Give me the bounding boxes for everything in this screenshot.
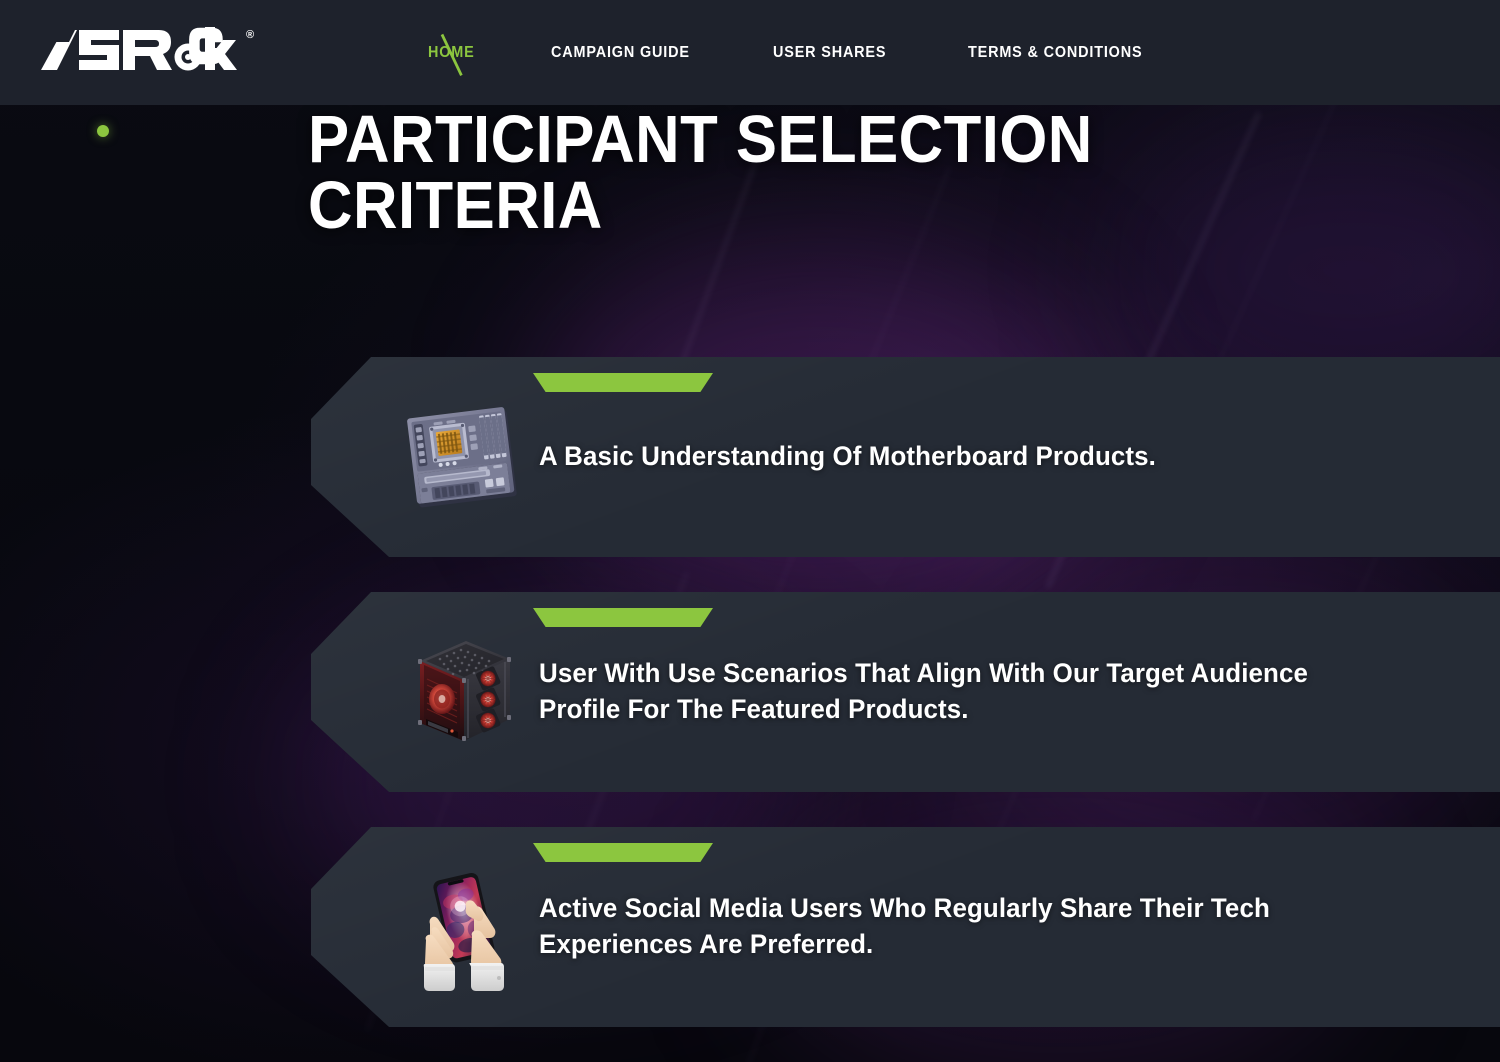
nav-item-user-shares[interactable]: USER SHARES (773, 34, 886, 72)
criteria-card-1[interactable]: A Basic Understanding Of Motherboard Pro… (311, 357, 1500, 557)
logo-trademark: ® (246, 30, 254, 41)
page-root: ® HOME CAMPAIGN GUIDE USER SHARES TERMS … (0, 0, 1500, 1062)
nav-item-terms-conditions-label: TERMS & CONDITIONS (968, 44, 1142, 61)
nav-item-user-shares-label: USER SHARES (773, 44, 886, 61)
nav-item-home[interactable]: HOME (428, 34, 475, 72)
hands-holding-phone-icon (391, 855, 536, 1000)
criteria-card-3[interactable]: Active Social Media Users Who Regularly … (311, 827, 1500, 1027)
criteria-card-1-text: A Basic Understanding Of Motherboard Pro… (539, 357, 1374, 557)
motherboard-icon (391, 385, 536, 530)
pc-case-icon (391, 620, 536, 765)
nav-item-terms-conditions[interactable]: TERMS & CONDITIONS (968, 34, 1142, 72)
nav-item-campaign-guide[interactable]: CAMPAIGN GUIDE (551, 34, 690, 72)
criteria-list: A Basic Understanding Of Motherboard Pro… (0, 0, 1500, 1062)
criteria-card-2-text: User With Use Scenarios That Align With … (539, 592, 1374, 792)
asrock-logo[interactable]: ® (33, 27, 254, 73)
criteria-card-3-text: Active Social Media Users Who Regularly … (539, 827, 1374, 1027)
criteria-card-2[interactable]: User With Use Scenarios That Align With … (311, 592, 1500, 792)
site-header: ® HOME CAMPAIGN GUIDE USER SHARES TERMS … (0, 0, 1500, 105)
asrock-logo-icon (33, 27, 243, 73)
nav-item-campaign-guide-label: CAMPAIGN GUIDE (551, 44, 690, 61)
main-nav: HOME CAMPAIGN GUIDE USER SHARES TERMS & … (428, 0, 1156, 105)
